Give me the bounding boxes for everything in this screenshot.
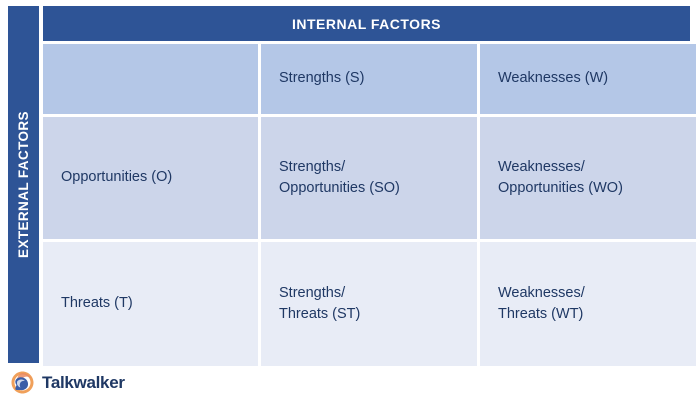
cell-strengths-opportunities: Strengths/ Opportunities (SO) [261,117,477,239]
cell-wo-label: Weaknesses/ Opportunities (WO) [498,157,623,199]
column-header-strengths-label: Strengths (S) [279,68,364,89]
external-factors-band: EXTERNAL FACTORS [8,6,39,363]
row-header-threats: Threats (T) [43,242,258,366]
column-header-weaknesses: Weaknesses (W) [480,44,696,114]
row-header-threats-label: Threats (T) [61,293,133,314]
talkwalker-logo: Talkwalker [10,370,125,395]
row-header-opportunities-label: Opportunities (O) [61,167,172,188]
cell-st-label: Strengths/ Threats (ST) [279,283,360,325]
talkwalker-wordmark: Talkwalker [42,373,125,393]
column-header-strengths: Strengths (S) [261,44,477,114]
external-factors-label: EXTERNAL FACTORS [16,111,31,258]
matrix-corner-cell [43,44,258,114]
swot-grid: Strengths (S) Weaknesses (W) Opportuniti… [43,44,690,363]
row-header-opportunities: Opportunities (O) [43,117,258,239]
internal-factors-header: INTERNAL FACTORS [43,6,690,41]
swot-matrix-diagram: EXTERNAL FACTORS INTERNAL FACTORS Streng… [0,0,700,401]
cell-weaknesses-opportunities: Weaknesses/ Opportunities (WO) [480,117,696,239]
internal-factors-label: INTERNAL FACTORS [292,16,441,32]
talkwalker-swirl-icon [10,370,35,395]
column-header-weaknesses-label: Weaknesses (W) [498,68,608,89]
cell-wt-label: Weaknesses/ Threats (WT) [498,283,585,325]
cell-weaknesses-threats: Weaknesses/ Threats (WT) [480,242,696,366]
cell-so-label: Strengths/ Opportunities (SO) [279,157,400,199]
cell-strengths-threats: Strengths/ Threats (ST) [261,242,477,366]
